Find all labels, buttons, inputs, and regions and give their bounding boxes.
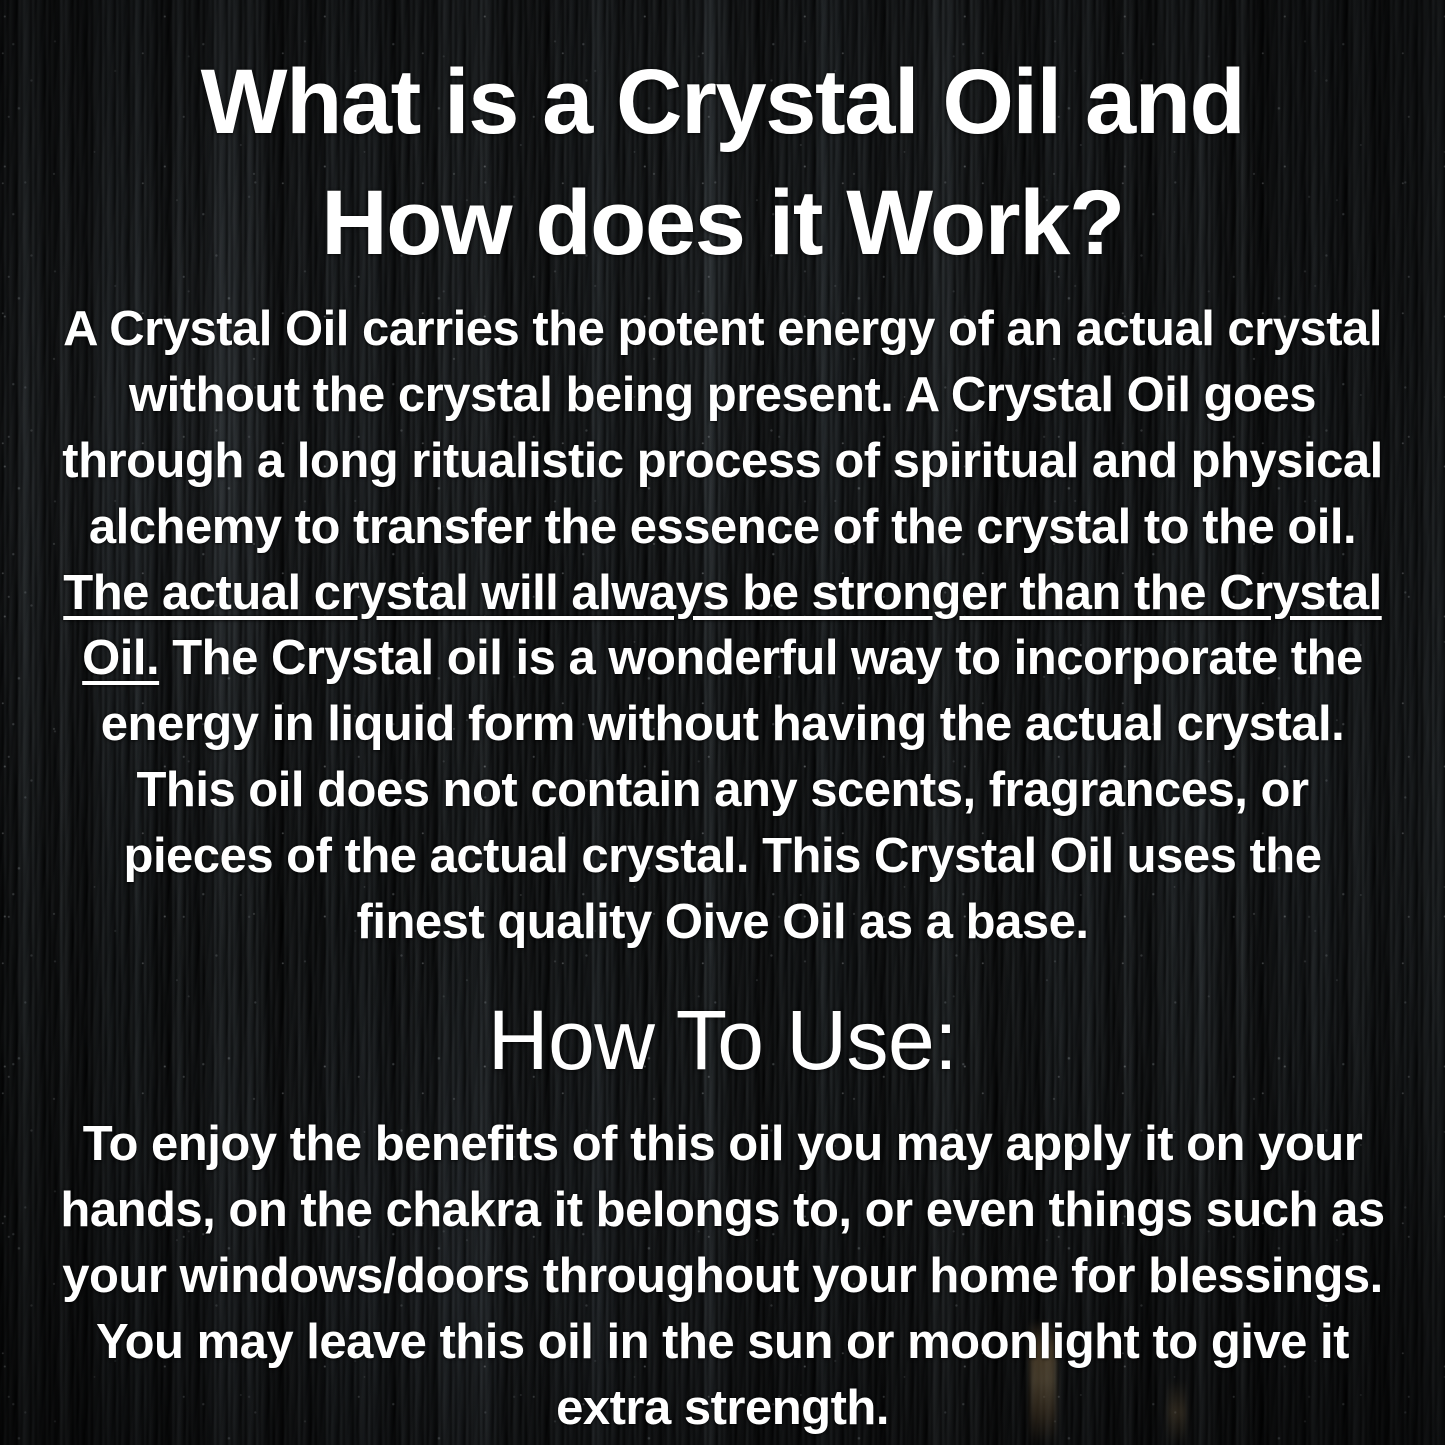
page-title: What is a Crystal Oil and How does it Wo…	[143, 42, 1303, 283]
how-to-use-paragraph: To enjoy the benefits of this oil you ma…	[58, 1112, 1388, 1441]
how-to-use-heading: How To Use:	[143, 994, 1303, 1086]
body-paragraph: A Crystal Oil carries the potent energy …	[58, 297, 1388, 956]
body-segment-outro: The Crystal oil is a wonderful way to in…	[101, 631, 1363, 949]
page-title-line-1: What is a Crystal Oil and	[201, 51, 1245, 153]
info-graphic-canvas: What is a Crystal Oil and How does it Wo…	[0, 0, 1445, 1445]
body-segment-intro: A Crystal Oil carries the potent energy …	[62, 302, 1382, 554]
content-container: What is a Crystal Oil and How does it Wo…	[0, 0, 1445, 1445]
page-title-line-2: How does it Work?	[321, 172, 1124, 274]
